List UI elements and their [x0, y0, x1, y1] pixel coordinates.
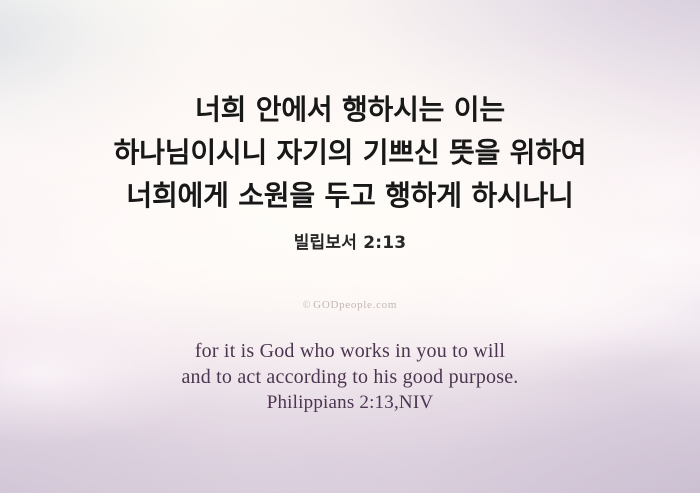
- watermark: ©GODpeople.com: [0, 299, 700, 311]
- korean-verse-reference: 빌립보서 2:13: [0, 228, 700, 253]
- english-verse-text: for it is God who works in you to will a…: [0, 338, 700, 390]
- copyright-icon: ©: [303, 300, 311, 311]
- english-verse-line-2: and to act according to his good purpose…: [0, 364, 700, 390]
- korean-verse-line-2: 하나님이시니 자기의 기쁘신 뜻을 위하여: [0, 131, 700, 174]
- english-verse-reference: Philippians 2:13,NIV: [0, 392, 700, 414]
- card-content: 너희 안에서 행하시는 이는 하나님이시니 자기의 기쁘신 뜻을 위하여 너희에…: [0, 0, 700, 493]
- korean-verse-line-3: 너희에게 소원을 두고 행하게 하시나니: [0, 174, 700, 217]
- korean-verse-line-1: 너희 안에서 행하시는 이는: [0, 88, 700, 131]
- english-verse-line-1: for it is God who works in you to will: [0, 338, 700, 364]
- watermark-text: GODpeople.com: [313, 299, 397, 311]
- korean-verse-text: 너희 안에서 행하시는 이는 하나님이시니 자기의 기쁘신 뜻을 위하여 너희에…: [0, 88, 700, 217]
- scripture-card: 너희 안에서 행하시는 이는 하나님이시니 자기의 기쁘신 뜻을 위하여 너희에…: [0, 0, 700, 493]
